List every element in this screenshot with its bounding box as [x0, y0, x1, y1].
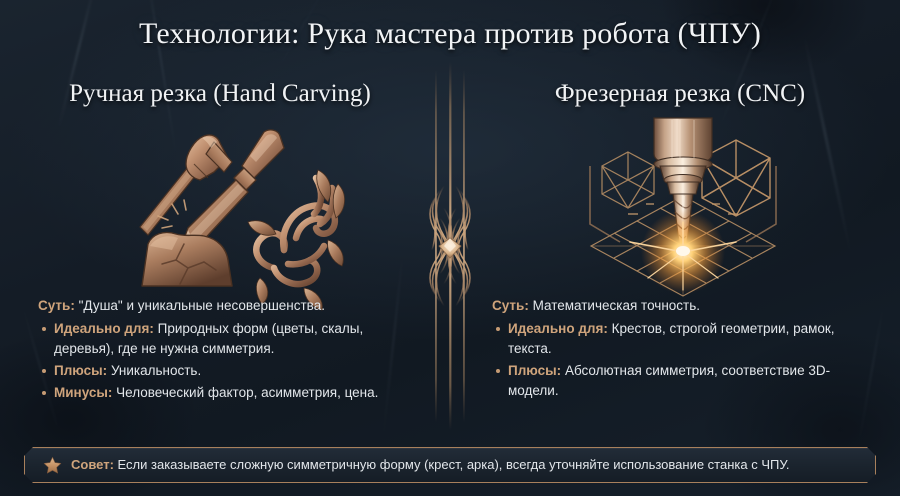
hammer-chisel-stone-ornament-illustration	[128, 118, 358, 293]
list-item: Идеально для: Природных форм (цветы, ска…	[38, 319, 418, 359]
bullet-dot-icon	[496, 327, 500, 331]
list-item: Плюсы: Абсолютная симметрия, соответстви…	[492, 361, 872, 401]
fact-text: "Душа" и уникальные несовершенства.	[79, 298, 325, 313]
page-title: Технологии: Рука мастера против робота (…	[0, 17, 900, 51]
fact-list: Идеально для: Крестов, строгой геометрии…	[492, 319, 872, 401]
fact-label: Суть:	[492, 298, 529, 313]
list-item: Плюсы: Уникальность.	[38, 361, 418, 381]
marble-vein	[802, 32, 852, 257]
fact-label: Плюсы:	[508, 363, 561, 378]
facts-hand-carving: Суть: "Душа" и уникальные несовершенства…	[38, 296, 418, 405]
spindle-icon	[654, 118, 712, 194]
fact-label: Минусы:	[54, 385, 112, 400]
list-item: Минусы: Человеческий фактор, асимметрия,…	[38, 383, 418, 403]
column-title-cnc-milling: Фрезерная резка (CNC)	[460, 80, 900, 108]
infographic-root: Технологии: Рука мастера против робота (…	[0, 0, 900, 496]
diamond-gem-icon	[439, 238, 461, 258]
tip-label: Совет:	[71, 457, 114, 472]
cnc-spindle-drill-wireframe-illustration	[568, 118, 798, 293]
celtic-knot-pattern	[430, 186, 470, 306]
fact-lead: Суть: Математическая точность.	[492, 296, 872, 316]
bullet-dot-icon	[496, 369, 500, 373]
fact-label: Идеально для:	[54, 321, 154, 336]
bullet-dot-icon	[42, 391, 46, 395]
fact-text: Математическая точность.	[533, 298, 700, 313]
fact-list: Идеально для: Природных форм (цветы, ска…	[38, 319, 418, 403]
fact-label: Идеально для:	[508, 321, 608, 336]
fact-label: Плюсы:	[54, 363, 107, 378]
bullet-dot-icon	[42, 369, 46, 373]
spark-glow-icon	[630, 210, 736, 294]
tip-body: Если заказываете сложную симметричную фо…	[118, 457, 790, 472]
facts-cnc-milling: Суть: Математическая точность. Идеально …	[492, 296, 872, 403]
fact-label: Суть:	[38, 298, 75, 313]
fact-lead: Суть: "Душа" и уникальные несовершенства…	[38, 296, 418, 316]
ornamental-vertical-divider	[418, 62, 482, 430]
list-item: Идеально для: Крестов, строгой геометрии…	[492, 319, 872, 359]
star-icon	[43, 456, 62, 475]
tip-text: Совет: Если заказываете сложную симметри…	[71, 457, 789, 473]
fact-text: Человеческий фактор, асимметрия, цена.	[116, 385, 378, 400]
tip-bar: Совет: Если заказываете сложную симметри…	[24, 447, 876, 483]
polyhedron-left-icon	[602, 152, 654, 208]
fact-text: Уникальность.	[111, 363, 201, 378]
stone-block-icon	[142, 232, 232, 286]
bullet-dot-icon	[42, 327, 46, 331]
column-title-hand-carving: Ручная резка (Hand Carving)	[0, 80, 440, 108]
